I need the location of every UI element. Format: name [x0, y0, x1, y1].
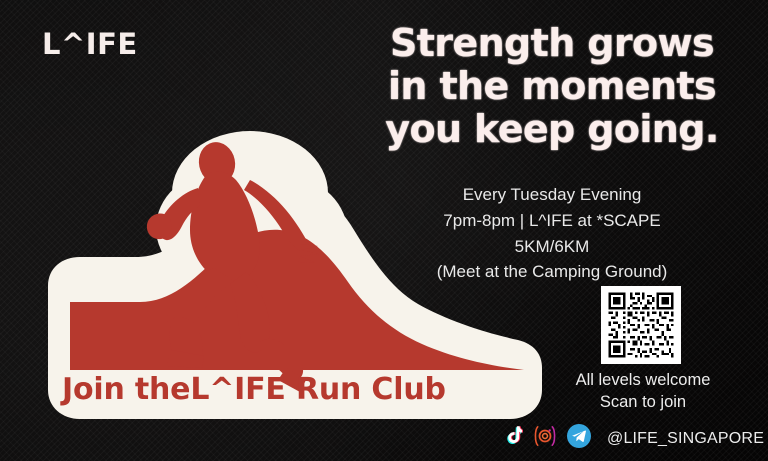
all-levels-welcome-text: All levels welcome — [548, 369, 738, 391]
instagram-icon[interactable] — [532, 425, 558, 452]
social-handle[interactable]: @LIFE_SINGAPORE — [607, 430, 764, 448]
caption-prefix: Join the — [62, 372, 190, 407]
scan-instructions: All levels welcome Scan to join — [548, 369, 738, 414]
telegram-icon[interactable] — [567, 424, 591, 453]
caption-brand: L^IFE Run Club — [190, 372, 445, 407]
brand-logo: L^IFE — [42, 30, 138, 59]
qr-code[interactable] — [601, 286, 681, 364]
headline-line-1: Strength grows — [352, 22, 752, 65]
sticker-caption: Join the L^IFE Run Club — [62, 361, 512, 417]
tiktok-icon[interactable] — [504, 426, 523, 452]
poster-canvas: L^IFE Strength grows in the moments you … — [0, 0, 768, 461]
qr-code-image — [605, 290, 677, 360]
headline-line-2: in the moments — [352, 65, 752, 108]
scan-to-join-text: Scan to join — [548, 391, 738, 413]
social-links: @LIFE_SINGAPORE — [504, 424, 764, 453]
